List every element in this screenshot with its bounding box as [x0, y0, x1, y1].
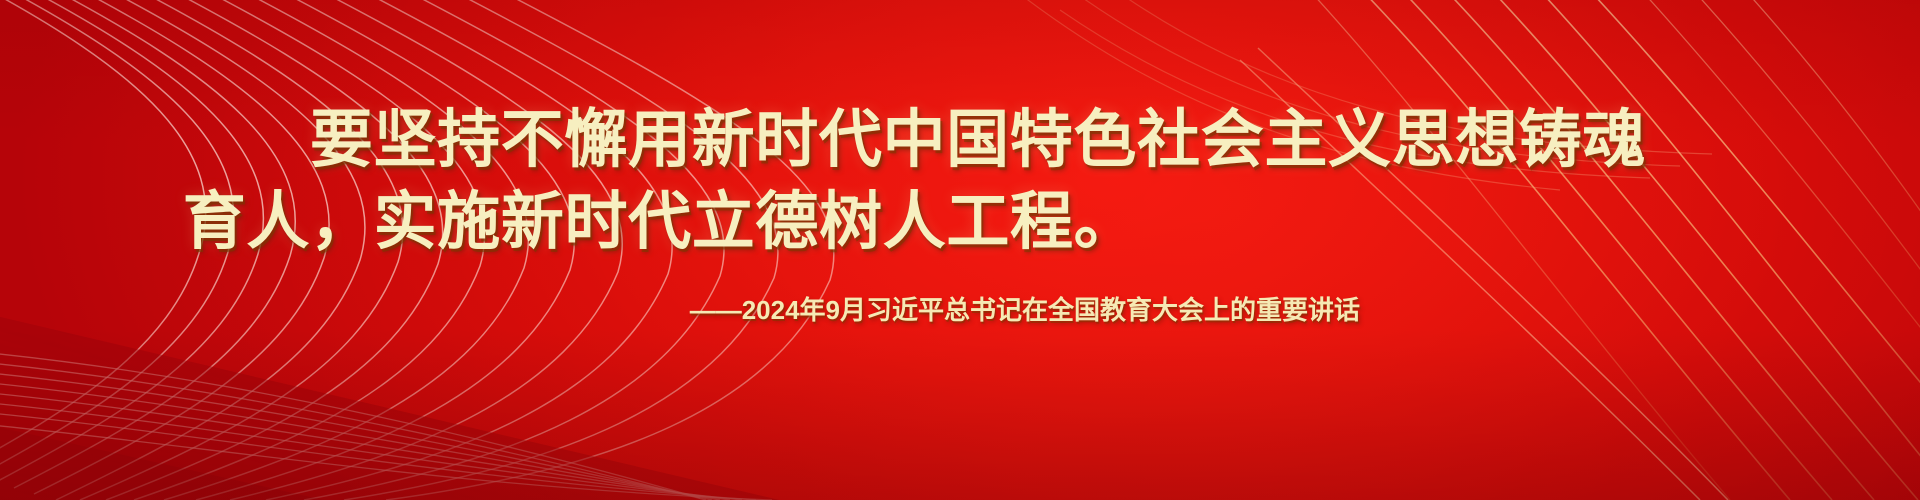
quote-line-1: 要坚持不懈用新时代中国特色社会主义思想铸魂: [0, 104, 1920, 176]
red-propaganda-banner: 要坚持不懈用新时代中国特色社会主义思想铸魂 育人，实施新时代立德树人工程。 ——…: [0, 0, 1920, 500]
quote-line-2: 育人，实施新时代立德树人工程。: [0, 186, 1920, 258]
banner-content: 要坚持不懈用新时代中国特色社会主义思想铸魂 育人，实施新时代立德树人工程。 ——…: [0, 0, 1920, 500]
quote-attribution: ——2024年9月习近平总书记在全国教育大会上的重要讲话: [690, 290, 1360, 327]
